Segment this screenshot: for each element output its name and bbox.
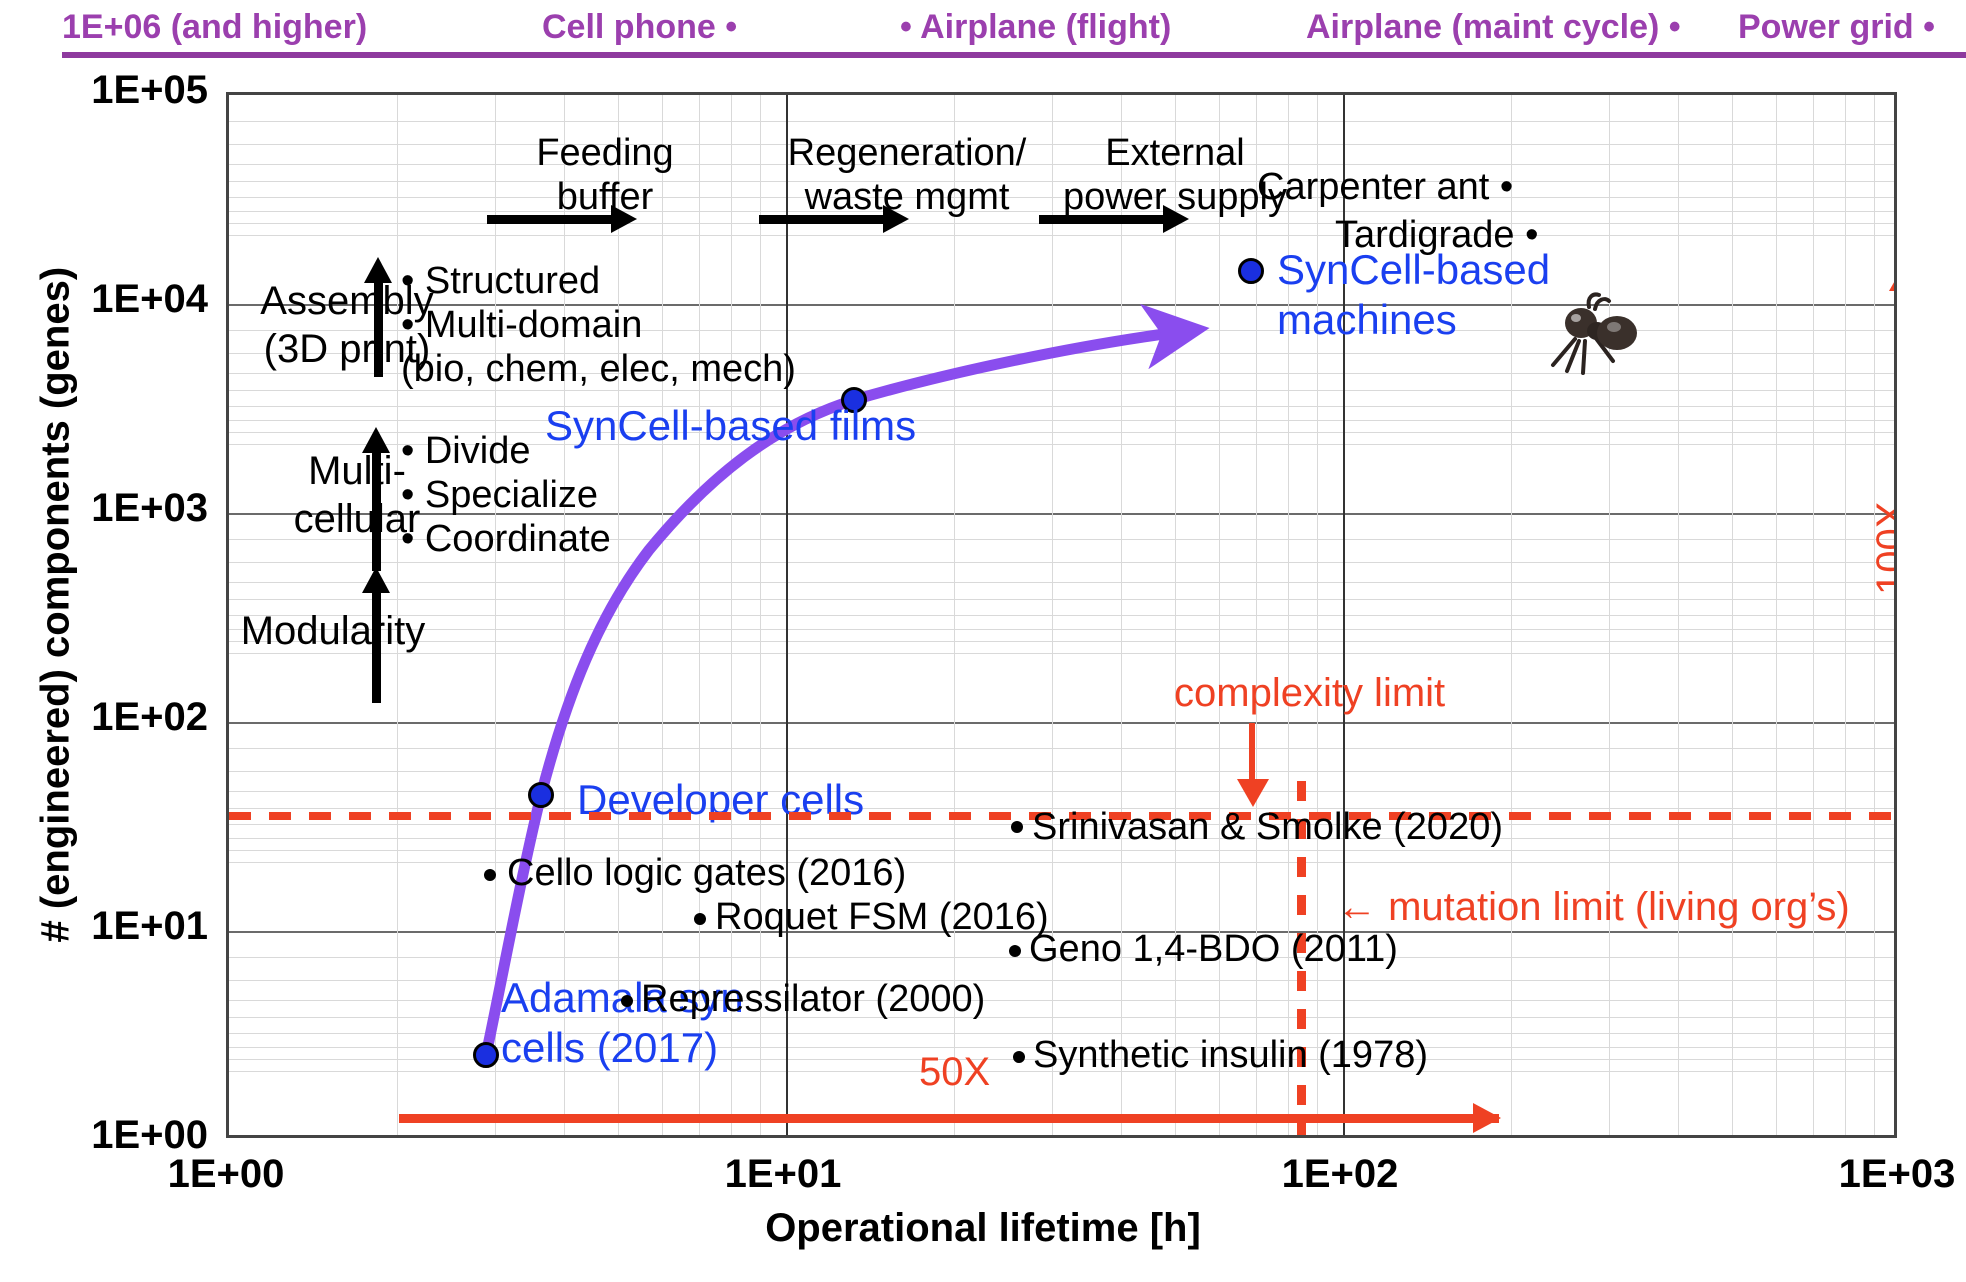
- y-tick-1e05: 1E+05: [0, 68, 208, 113]
- point-srinivasan-smolke[interactable]: [1011, 821, 1023, 833]
- repressilator-label: Repressilator (2000): [641, 977, 985, 1021]
- gain-100x-arrow: [1894, 263, 1897, 805]
- x-tick-1e00: 1E+00: [106, 1152, 346, 1197]
- gain-100x-label: 100X: [1869, 502, 1897, 595]
- y-tick-1e03: 1E+03: [0, 486, 208, 531]
- syncell-based-machines-label: SynCell-based machines: [1277, 245, 1550, 345]
- x-tick-1e02: 1E+02: [1220, 1152, 1460, 1197]
- point-geno-bdo[interactable]: [1009, 945, 1021, 957]
- cello-logic-gates-label: Cello logic gates (2016): [507, 851, 906, 895]
- complexity-limit-arrow: [1242, 723, 1264, 807]
- x-axis-title: Operational lifetime [h]: [0, 1206, 1966, 1251]
- x-tick-1e03: 1E+03: [1777, 1152, 1966, 1197]
- higher-scale-label: 1E+06 (and higher): [62, 6, 367, 48]
- airplane-maint-label: Airplane (maint cycle) •: [1306, 6, 1681, 48]
- power-grid-label: Power grid •: [1738, 6, 1935, 48]
- point-repressilator[interactable]: [621, 995, 633, 1007]
- gain-50x-arrow: [399, 1109, 1499, 1127]
- synthetic-insulin-label: Synthetic insulin (1978): [1033, 1033, 1428, 1077]
- benchmark-band: 1E+06 (and higher) Cell phone • • Airpla…: [0, 0, 1966, 62]
- point-cello-logic-gates[interactable]: [484, 869, 496, 881]
- complexity-limit-label: complexity limit: [1174, 671, 1445, 716]
- point-syncell-based-machines[interactable]: [1238, 258, 1264, 284]
- point-adamala-syn-cells[interactable]: [473, 1042, 499, 1068]
- plot-area: Feeding buffer Regeneration/ waste mgmt …: [226, 92, 1897, 1138]
- syncell-based-films-label: SynCell-based films: [545, 401, 916, 451]
- gain-50x-label: 50X: [919, 1050, 990, 1095]
- y-tick-1e04: 1E+04: [0, 277, 208, 322]
- airplane-flight-label: • Airplane (flight): [900, 6, 1171, 48]
- point-synthetic-insulin[interactable]: [1013, 1051, 1025, 1063]
- y-tick-1e02: 1E+02: [0, 695, 208, 740]
- ant-icon: [1529, 287, 1649, 383]
- point-roquet-fsm[interactable]: [694, 913, 706, 925]
- syncell-trajectory-curve: [229, 95, 1897, 1138]
- mutation-limit-label: ← mutation limit (living org’s): [1337, 885, 1850, 930]
- y-axis-title: # (engineered) components (genes): [34, 303, 79, 943]
- geno-bdo-label: Geno 1,4-BDO (2011): [1029, 927, 1398, 971]
- point-developer-cells[interactable]: [528, 782, 554, 808]
- roquet-fsm-label: Roquet FSM (2016): [715, 895, 1049, 939]
- srinivasan-smolke-label: Srinivasan & Smolke (2020): [1032, 805, 1503, 849]
- y-tick-1e01: 1E+01: [0, 904, 208, 949]
- x-tick-1e01: 1E+01: [663, 1152, 903, 1197]
- cell-phone-label: Cell phone •: [542, 6, 737, 48]
- benchmark-rule: [62, 52, 1966, 58]
